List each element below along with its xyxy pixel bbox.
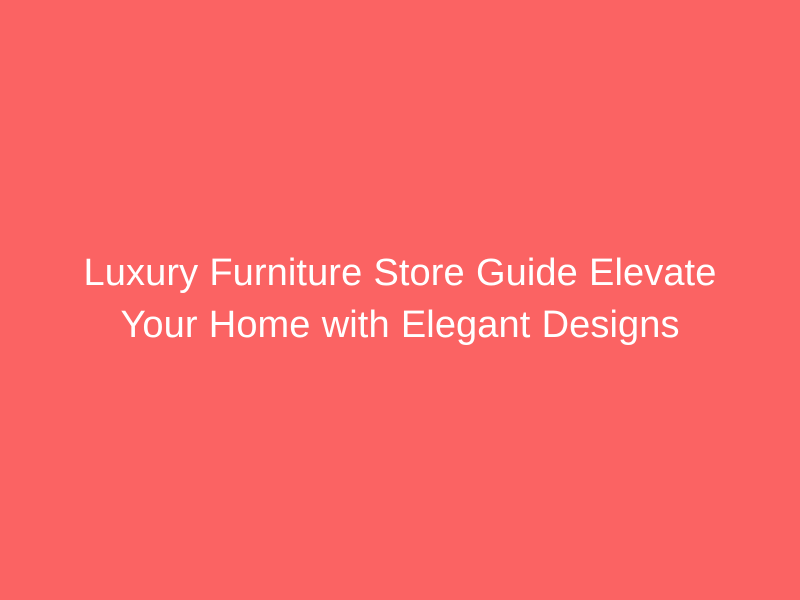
hero-content: Luxury Furniture Store Guide Elevate You… — [70, 247, 730, 351]
hero-banner: Luxury Furniture Store Guide Elevate You… — [0, 0, 800, 600]
page-title: Luxury Furniture Store Guide Elevate You… — [70, 247, 730, 351]
